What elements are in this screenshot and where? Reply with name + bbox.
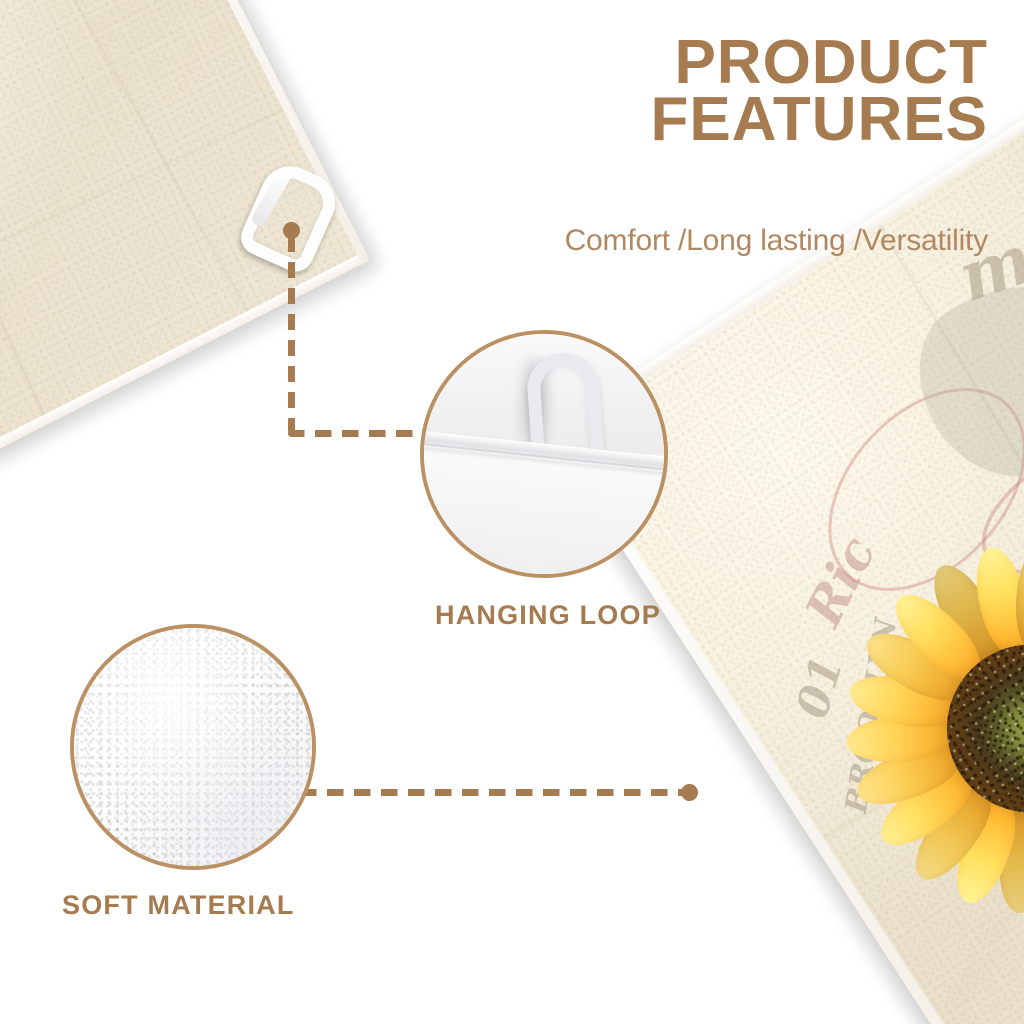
hanging-loop-photo	[424, 334, 664, 574]
page-title: PRODUCT FEATURES	[368, 34, 988, 148]
paper-crease-lines	[0, 0, 370, 578]
page-subtitle: Comfort /Long lasting /Versatility	[328, 224, 988, 258]
detail-circle-hanging-loop	[420, 330, 668, 578]
connector-line-horizontal	[300, 789, 696, 796]
title-line-2: FEATURES	[368, 91, 988, 148]
fabric-sheen	[74, 628, 312, 866]
connector-line-vertical	[288, 236, 295, 434]
callout-label-hanging-loop: HANGING LOOP	[435, 600, 661, 631]
mat-corner-top-left: Italia in or &e Lon	[0, 0, 370, 578]
detail-circle-soft-material	[70, 624, 316, 870]
connector-dot-soft-material	[681, 784, 698, 801]
vintage-paper-print: Italia in or &e Lon	[0, 0, 370, 578]
product-features-infographic: Italia in or &e Lon m n Ric	[0, 0, 1024, 1024]
terry-texture-icon	[74, 628, 312, 866]
callout-label-soft-material: SOFT MATERIAL	[62, 890, 295, 921]
